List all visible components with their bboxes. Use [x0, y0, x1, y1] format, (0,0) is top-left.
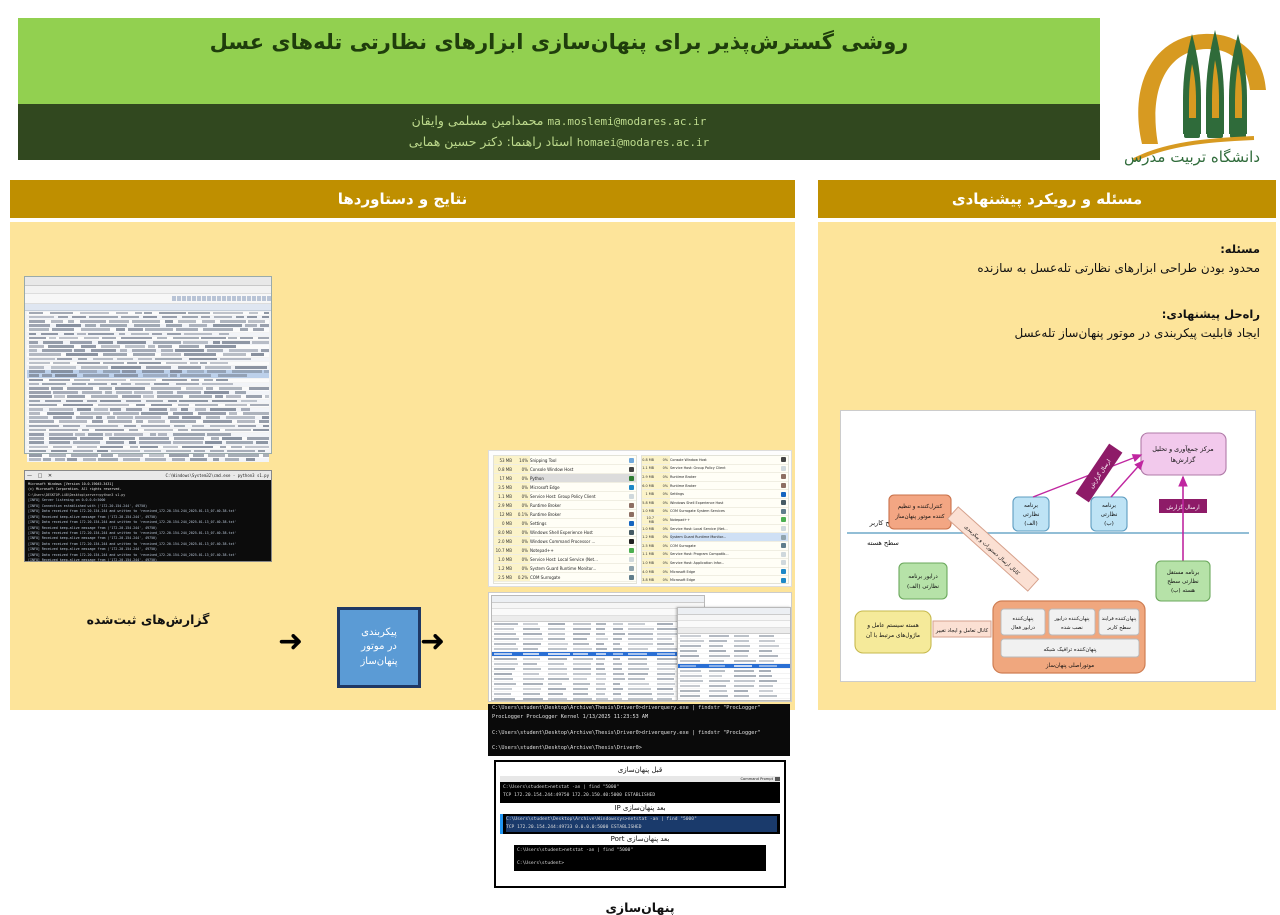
process-name: Runtime Broker — [670, 475, 779, 479]
log-viewer-row[interactable] — [27, 429, 269, 433]
task-manager-row[interactable]: Windows Shell Experience Host0%8.0 MB — [494, 528, 636, 537]
process-name: Runtime Broker — [670, 484, 779, 488]
process-icon — [629, 485, 634, 490]
process-cpu: 0% — [656, 456, 670, 464]
process-icon — [629, 566, 634, 571]
problem-section-bar: مسئله و رویکرد پیشنهادی — [818, 180, 1276, 218]
task-manager-row[interactable]: Service Host: Local Service (Net...0%1.0… — [642, 525, 788, 534]
task-manager-row[interactable]: Microsoft Edge0%4.0 MB — [642, 568, 788, 577]
log-viewer-rows[interactable] — [25, 312, 271, 462]
svg-text:هسته سیستم عامل و: هسته سیستم عامل و — [866, 623, 919, 629]
log-viewer-row[interactable] — [27, 358, 269, 362]
process-icon — [781, 509, 786, 514]
task-manager-row[interactable]: Microsoft Edge0%3.5 MB — [494, 483, 636, 492]
process-memory: 2.9 MB — [494, 501, 514, 509]
process-icon — [629, 521, 634, 526]
svg-text:درایور برنامه: درایور برنامه — [908, 574, 938, 580]
log-viewer-row[interactable] — [27, 391, 269, 395]
log-viewer-row[interactable] — [27, 446, 269, 450]
process-cpu: 0% — [656, 508, 670, 516]
netstat-block-before: C:\Users\student>netstat -an | find "500… — [500, 782, 780, 803]
process-icon — [781, 457, 786, 462]
solution-body: ایجاد قابلیت پیکربندی در موتور پنهان‌ساز… — [834, 325, 1260, 342]
author-name: محمدامین مسلمی وایقان — [412, 113, 544, 128]
process-cpu: 0% — [656, 473, 670, 481]
task-manager-row[interactable]: Settings0%1 MB — [642, 490, 788, 499]
svg-text:کنترل‌کننده و تنظیم: کنترل‌کننده و تنظیم — [898, 503, 943, 510]
process-name: Python — [530, 476, 627, 481]
svg-text:مرکز جمع‌آوری و تحلیل: مرکز جمع‌آوری و تحلیل — [1152, 444, 1213, 453]
process-memory: 1.1 MB — [642, 465, 656, 473]
process-cpu: 0% — [514, 492, 530, 500]
process-icon — [629, 575, 634, 580]
config-engine-line1: پیکربندی — [361, 626, 397, 641]
process-name: Microsoft Edge — [670, 570, 779, 574]
task-manager-row[interactable]: COM Surrogate System Services0%1.0 MB — [642, 508, 788, 517]
python-server-console[interactable]: C:\Windows\System32\cmd.exe - python3 s1… — [24, 470, 272, 562]
svg-text:کننده موتور پنهان‌ساز: کننده موتور پنهان‌ساز — [894, 513, 945, 520]
problem-text-block: مسئله: محدود بودن طراحی ابزارهای نظارتی … — [834, 242, 1260, 343]
process-icon — [781, 552, 786, 557]
log-viewer-column-headers — [25, 304, 271, 311]
process-name: Snipping Tool — [530, 458, 627, 463]
process-icon — [781, 543, 786, 548]
driverview-screenshots — [488, 592, 792, 702]
process-memory: 1.0 MB — [494, 555, 514, 563]
process-icon — [629, 512, 634, 517]
task-manager-row[interactable]: Runtime Broker0.1%12 MB — [494, 510, 636, 519]
process-memory: 2.5 MB — [642, 542, 656, 550]
process-memory: 10.7 MB — [642, 516, 656, 524]
process-memory: 6.0 MB — [642, 482, 656, 490]
results-panel: C:\Windows\System32\cmd.exe - python3 s1… — [10, 222, 795, 710]
process-memory: 1.2 MB — [494, 564, 514, 572]
process-name: Windows Shell Experience Host — [530, 530, 627, 535]
page-title: روشی گسترش‌پذیر برای پنهان‌سازی ابزارهای… — [210, 18, 909, 56]
process-name: Service Host: Application Infor... — [670, 561, 779, 565]
process-name: Microsoft Edge — [670, 578, 779, 582]
driverview-row[interactable] — [492, 697, 704, 701]
process-cpu: 0% — [514, 537, 530, 545]
process-cpu: 0% — [514, 483, 530, 491]
process-memory: 17 MB — [494, 474, 514, 482]
supervisor-name: استاد راهنما: دکتر حسین همایی — [409, 134, 573, 149]
process-icon — [781, 492, 786, 497]
process-icon — [629, 530, 634, 535]
process-cpu: 0% — [514, 555, 530, 563]
architecture-diagram: سطح کاربر سطح هسته مرکز جمع‌آوری و تحلیل… — [840, 410, 1256, 682]
window-controls[interactable]: — □ ✕ — [27, 473, 54, 479]
svg-text:سطح کاربر: سطح کاربر — [1106, 625, 1131, 631]
process-cpu: 0% — [656, 516, 670, 524]
log-viewer-row[interactable] — [27, 425, 269, 429]
author-band: ma.moslemi@modares.ac.ir محمدامین مسلمی … — [18, 104, 1100, 160]
log-viewer-row[interactable] — [27, 379, 269, 383]
netstat-comparison: قبل پنهان‌سازی Command Prompt C:\Users\s… — [494, 760, 786, 888]
arrow-right-icon-1: ➜ — [278, 627, 303, 657]
log-viewer-row[interactable] — [27, 450, 269, 454]
task-manager-row[interactable]: Windows Command Processor ...0%2.0 MB — [494, 537, 636, 546]
cmd-prompt-title: Command Prompt — [740, 777, 773, 781]
process-icon — [781, 517, 786, 522]
svg-text:نظارتی (الف): نظارتی (الف) — [907, 584, 939, 590]
log-viewer-row[interactable] — [27, 324, 269, 328]
process-icon — [629, 467, 634, 472]
author-email: ma.moslemi@modares.ac.ir — [547, 115, 706, 128]
log-viewer-row[interactable] — [27, 404, 269, 408]
process-icon — [781, 466, 786, 471]
arrow-right-icon-2: ➜ — [420, 627, 445, 657]
solution-heading: راه‌حل پیشنهادی: — [834, 307, 1260, 321]
log-viewer-row[interactable] — [27, 400, 269, 404]
netstat-block-after-port: C:\Users\student>netstat -an | find "500… — [514, 845, 766, 871]
process-name: Console Window Host — [670, 458, 779, 462]
process-cpu: 0% — [656, 499, 670, 507]
task-manager-row[interactable]: Runtime Broker0%2.9 MB — [642, 473, 788, 482]
logo-wordmark: دانشگاه تربیت مدرس — [1124, 148, 1260, 166]
log-viewer-row[interactable] — [27, 458, 269, 462]
task-manager-row[interactable]: Windows Shell Experience Host0%5.8 MB — [642, 499, 788, 508]
process-cpu: 14% — [514, 456, 530, 464]
driverquery-console[interactable]: C:\Users\student\Desktop\Archive\Thesis\… — [488, 704, 790, 756]
task-manager-after[interactable]: Console Window Host0%0.8 MBService Host:… — [641, 455, 789, 584]
process-icon — [629, 539, 634, 544]
process-name: Settings — [530, 521, 627, 526]
process-cpu: 0% — [656, 568, 670, 576]
netstat-label-after-ip: بعد پنهان‌سازی IP — [500, 804, 780, 812]
log-viewer-row[interactable] — [27, 333, 269, 337]
task-manager-row[interactable]: COM Surrogate0.2%2.5 MB — [494, 573, 636, 582]
problem-heading: مسئله: — [834, 242, 1260, 256]
process-memory: 1.1 MB — [642, 551, 656, 559]
process-memory: 0.8 MB — [494, 465, 514, 473]
task-manager-before[interactable]: Snipping Tool14%53 MBConsole Window Host… — [493, 455, 637, 584]
log-viewer-row[interactable] — [27, 312, 269, 316]
process-icon — [781, 483, 786, 488]
log-viewer-toolbar[interactable] — [25, 294, 271, 304]
task-manager-row[interactable]: System Guard Runtime Monitor...0%1.2 MB — [494, 564, 636, 573]
driverview-titlebar-2 — [678, 608, 790, 615]
process-name: Service Host: Local Service (Net... — [670, 527, 779, 531]
process-name: Notepad++ — [670, 518, 779, 522]
python-console-title: C:\Windows\System32\cmd.exe - python3 s1… — [165, 473, 269, 478]
task-manager-row[interactable]: Notepad++0%10.7 MB — [494, 546, 636, 555]
driverquery-line-2: ProcLogger ProcLogger Kernel 1/13/2025 1… — [488, 713, 790, 722]
netstat-before-line-2: TCP 172.20.154.244:49750 172.20.150.40:5… — [503, 792, 777, 800]
process-name: Windows Shell Experience Host — [670, 501, 779, 505]
task-manager-row[interactable]: Service Host: Group Policy Client0%1.1 M… — [642, 465, 788, 474]
process-name: Runtime Broker — [530, 503, 627, 508]
svg-text:پنهان‌کننده ترافیک شبکه: پنهان‌کننده ترافیک شبکه — [1043, 646, 1097, 653]
log-viewer-row[interactable] — [27, 395, 269, 399]
log-viewer-row[interactable] — [27, 366, 269, 370]
python-console-line: [INFO] Received keep-alive message from … — [28, 558, 268, 563]
svg-text:برنامه: برنامه — [1102, 503, 1116, 509]
task-manager-row[interactable]: Service Host: Local Service (Net...0%1.0… — [494, 555, 636, 564]
process-icon — [629, 503, 634, 508]
log-viewer-row[interactable] — [27, 362, 269, 366]
driverquery-line-3: C:\Users\student\Desktop\Archive\Thesis\… — [488, 729, 790, 738]
process-memory: 12 MB — [494, 510, 514, 518]
log-viewer-row[interactable] — [27, 416, 269, 420]
netstat-afterport-line-1: C:\Users\student>netstat -an | find "500… — [517, 847, 763, 855]
process-cpu: 0% — [514, 528, 530, 536]
python-console-titlebar: C:\Windows\System32\cmd.exe - python3 s1… — [25, 471, 271, 480]
task-manager-row[interactable]: Service Host: Group Policy Client0%1.1 M… — [494, 492, 636, 501]
process-memory: 8.0 MB — [494, 528, 514, 536]
netstat-afterip-line-1: C:\Users\student\Desktop\Archive\Windows… — [506, 816, 777, 824]
log-viewer-row[interactable] — [27, 341, 269, 345]
process-cpu: 0% — [656, 465, 670, 473]
python-console-line: [INFO] Data received from 172.20.154.244… — [28, 520, 268, 525]
process-memory: 1.0 MB — [642, 508, 656, 516]
netstat-before-line-1: C:\Users\student>netstat -an | find "500… — [503, 784, 777, 792]
process-icon — [629, 494, 634, 499]
process-name: Service Host: Local Service (Net... — [530, 557, 627, 562]
results-section-label: نتایج و دستاوردها — [338, 190, 468, 208]
process-name: Service Host: Group Policy Client — [530, 494, 627, 499]
process-memory: 2.0 MB — [494, 537, 514, 545]
process-memory: 5.8 MB — [642, 499, 656, 507]
process-memory: 1.0 MB — [642, 525, 656, 533]
university-logo-icon: دانشگاه تربیت مدرس — [1108, 12, 1276, 174]
process-icon — [629, 476, 634, 481]
process-cpu: 0% — [514, 465, 530, 473]
log-viewer-row[interactable] — [27, 349, 269, 353]
driverview-row[interactable] — [678, 699, 790, 701]
svg-text:برنامه مستقل: برنامه مستقل — [1167, 570, 1200, 576]
process-name: COM Surrogate — [530, 575, 627, 580]
supervisor-line: homaei@modares.ac.ir استاد راهنما: دکتر … — [409, 132, 709, 153]
console-icon — [775, 777, 780, 781]
config-engine-box: پیکربندی در موتور پنهان‌ساز — [337, 607, 421, 688]
svg-text:نظارتی: نظارتی — [1023, 512, 1040, 518]
process-cpu: 0% — [656, 542, 670, 550]
log-viewer-row[interactable] — [27, 316, 269, 320]
process-cpu: 0% — [514, 546, 530, 554]
driverview-titlebar-1 — [492, 596, 704, 603]
process-name: System Guard Runtime Monitor... — [530, 566, 627, 571]
process-cpu: 0% — [656, 559, 670, 567]
process-cpu: 0% — [656, 525, 670, 533]
svg-text:کانال تعامل و ایجاد تغییر: کانال تعامل و ایجاد تغییر — [935, 628, 989, 634]
task-manager-row[interactable]: COM Surrogate0%2.5 MB — [642, 542, 788, 551]
netstat-afterip-line-2: TCP 172.20.154.244:49733 0.0.0.0:5000 ES… — [506, 824, 777, 832]
problem-body: محدود بودن طراحی ابزارهای نظارتی تله‌عسل… — [834, 260, 1260, 277]
svg-text:گزارش‌ها: گزارش‌ها — [1171, 456, 1197, 464]
process-name: Runtime Broker — [530, 512, 627, 517]
process-memory: 1.1 MB — [494, 492, 514, 500]
task-manager-row[interactable]: Python0%17 MB — [494, 474, 636, 483]
process-icon — [629, 557, 634, 562]
log-viewer-row[interactable] — [27, 433, 269, 437]
process-icon — [781, 569, 786, 574]
process-name: System Guard Runtime Monitor... — [670, 535, 779, 539]
log-viewer-window[interactable] — [24, 276, 272, 454]
task-manager-row[interactable]: Microsoft Edge0%3.8 MB — [642, 576, 788, 584]
problem-panel: مسئله: محدود بودن طراحی ابزارهای نظارتی … — [818, 222, 1276, 710]
svg-text:هسته (ب): هسته (ب) — [1171, 588, 1195, 594]
driverquery-line-1: C:\Users\student\Desktop\Archive\Thesis\… — [488, 704, 790, 713]
driverquery-line-4: C:\Users\student\Desktop\Archive\Thesis\… — [488, 744, 790, 753]
task-manager-row[interactable]: Console Window Host0%0.8 MB — [494, 465, 636, 474]
task-manager-row[interactable]: Console Window Host0%0.8 MB — [642, 456, 788, 465]
process-name: Settings — [670, 492, 779, 496]
process-cpu: 0% — [656, 482, 670, 490]
process-memory: 1.0 MB — [642, 559, 656, 567]
author-line: ma.moslemi@modares.ac.ir محمدامین مسلمی … — [412, 111, 707, 132]
svg-text:نظارتی: نظارتی — [1101, 512, 1118, 518]
process-icon — [629, 458, 634, 463]
problem-section-label: مسئله و رویکرد پیشنهادی — [952, 190, 1142, 208]
process-icon — [781, 474, 786, 479]
process-cpu: 0% — [656, 533, 670, 541]
svg-text:نصب شده: نصب شده — [1061, 625, 1083, 631]
config-engine-line3: پنهان‌ساز — [360, 655, 397, 670]
process-cpu: 0% — [514, 564, 530, 572]
log-viewer-row[interactable] — [27, 328, 269, 332]
log-viewer-row[interactable] — [27, 374, 269, 378]
svg-text:موتوراصلی پنهان‌ساز: موتوراصلی پنهان‌ساز — [1045, 663, 1094, 669]
process-name: Service Host: Group Policy Client — [670, 466, 779, 470]
process-icon — [781, 500, 786, 505]
netstat-block-after-ip: C:\Users\student\Desktop\Archive\Windows… — [500, 814, 780, 835]
task-manager-row[interactable]: Runtime Broker0%6.0 MB — [642, 482, 788, 491]
netstat-afterport-line-2: C:\Users\student> — [517, 860, 763, 868]
process-icon — [781, 535, 786, 540]
process-name: Service Host: Program Compatib... — [670, 552, 779, 556]
process-cpu: 0% — [514, 519, 530, 527]
log-viewer-menubar[interactable] — [25, 286, 271, 294]
process-memory: 1 MB — [642, 490, 656, 498]
process-memory: 2.9 MB — [642, 473, 656, 481]
process-memory: 10.7 MB — [494, 546, 514, 554]
log-viewer-row[interactable] — [27, 383, 269, 387]
process-name: Console Window Host — [530, 467, 627, 472]
log-viewer-row[interactable] — [27, 370, 269, 374]
process-name: COM Surrogate System Services — [670, 509, 779, 513]
svg-text:نظارتی سطح: نظارتی سطح — [1167, 579, 1199, 585]
log-viewer-row[interactable] — [27, 412, 269, 416]
svg-text:(الف): (الف) — [1024, 521, 1037, 527]
process-cpu: 0.2% — [514, 573, 530, 581]
process-cpu: 0% — [656, 576, 670, 584]
process-name: COM Surrogate — [670, 544, 779, 548]
log-viewer-row[interactable] — [27, 454, 269, 458]
task-manager-screenshots: Snipping Tool14%53 MBConsole Window Host… — [488, 450, 792, 587]
caption-hiding: پنهان‌سازی — [490, 900, 790, 915]
svg-text:پنهان‌کننده فرایند: پنهان‌کننده فرایند — [1102, 616, 1137, 622]
svg-text:درایور فعال: درایور فعال — [1011, 625, 1035, 631]
svg-text:پنهان‌کننده: پنهان‌کننده — [1012, 616, 1034, 622]
title-band: روشی گسترش‌پذیر برای پنهان‌سازی ابزارهای… — [18, 18, 1100, 104]
log-viewer-row[interactable] — [27, 337, 269, 341]
log-viewer-row[interactable] — [27, 408, 269, 412]
log-viewer-row[interactable] — [27, 441, 269, 445]
process-memory: 0.8 MB — [642, 456, 656, 464]
log-viewer-row[interactable] — [27, 345, 269, 349]
task-manager-row[interactable]: Settings0%0 MB — [494, 519, 636, 528]
process-memory: 4.0 MB — [642, 568, 656, 576]
process-memory: 3.8 MB — [642, 576, 656, 584]
driverview-toolbar-2[interactable] — [678, 621, 790, 628]
process-memory: 3.5 MB — [494, 483, 514, 491]
process-name: Microsoft Edge — [530, 485, 627, 490]
driverview-toolbar-1[interactable] — [492, 609, 704, 616]
task-manager-row[interactable]: Service Host: Program Compatib...0%1.1 M… — [642, 551, 788, 560]
caption-logs: گزارش‌های ثبت‌شده — [24, 612, 272, 627]
process-cpu: 0.1% — [514, 510, 530, 518]
process-cpu: 0% — [656, 551, 670, 559]
poster-root: روشی گسترش‌پذیر برای پنهان‌سازی ابزارهای… — [0, 0, 1280, 720]
process-cpu: 0% — [656, 490, 670, 498]
netstat-label-after-port: بعد پنهان‌سازی Port — [500, 835, 780, 843]
process-icon — [781, 526, 786, 531]
config-engine-line2: در موتور — [361, 640, 397, 655]
netstat-label-before: قبل پنهان‌سازی — [500, 766, 780, 774]
task-manager-row[interactable]: Notepad++0%10.7 MB — [642, 516, 788, 525]
log-viewer-row[interactable] — [27, 420, 269, 424]
task-manager-row[interactable]: Snipping Tool14%53 MB — [494, 456, 636, 465]
results-section-bar: نتایج و دستاوردها — [10, 180, 795, 218]
driverview-window-before[interactable] — [491, 595, 705, 701]
process-name: Notepad++ — [530, 548, 627, 553]
svg-text:کانال ارسال دستورات و پیکربندی: کانال ارسال دستورات و پیکربندی — [963, 524, 1021, 577]
python-console-line: [INFO] Data received from 172.20.154.244… — [28, 509, 268, 514]
process-icon — [781, 578, 786, 583]
log-viewer-titlebar — [25, 277, 271, 286]
driverview-window-after[interactable] — [677, 607, 791, 701]
svg-text:پنهان‌کننده درایور: پنهان‌کننده درایور — [1053, 616, 1090, 622]
log-viewer-row[interactable] — [27, 387, 269, 391]
log-viewer-row[interactable] — [27, 353, 269, 357]
process-memory: 53 MB — [494, 456, 514, 464]
supervisor-email: homaei@modares.ac.ir — [577, 136, 709, 149]
svg-text:برنامه: برنامه — [1024, 503, 1038, 509]
process-memory: 1.2 MB — [642, 533, 656, 541]
svg-text:ماژول‌های مرتبط با آن: ماژول‌های مرتبط با آن — [866, 631, 920, 639]
label-kernel-level: سطح هسته — [867, 539, 899, 547]
log-viewer-row[interactable] — [27, 320, 269, 324]
process-memory: 2.5 MB — [494, 573, 514, 581]
task-manager-row[interactable]: System Guard Runtime Monitor...0%1.2 MB — [642, 533, 788, 542]
process-cpu: 0% — [514, 474, 530, 482]
python-console-output: Microsoft Windows [Version 10.0.19045.34… — [25, 480, 271, 566]
task-manager-row[interactable]: Runtime Broker0%2.9 MB — [494, 501, 636, 510]
svg-text:(ب): (ب) — [1104, 521, 1114, 527]
process-memory: 0 MB — [494, 519, 514, 527]
process-icon — [629, 548, 634, 553]
process-cpu: 0% — [514, 501, 530, 509]
process-name: Windows Command Processor ... — [530, 539, 627, 544]
process-icon — [781, 560, 786, 565]
log-viewer-row[interactable] — [27, 437, 269, 441]
task-manager-row[interactable]: Service Host: Application Infor...0%1.0 … — [642, 559, 788, 568]
